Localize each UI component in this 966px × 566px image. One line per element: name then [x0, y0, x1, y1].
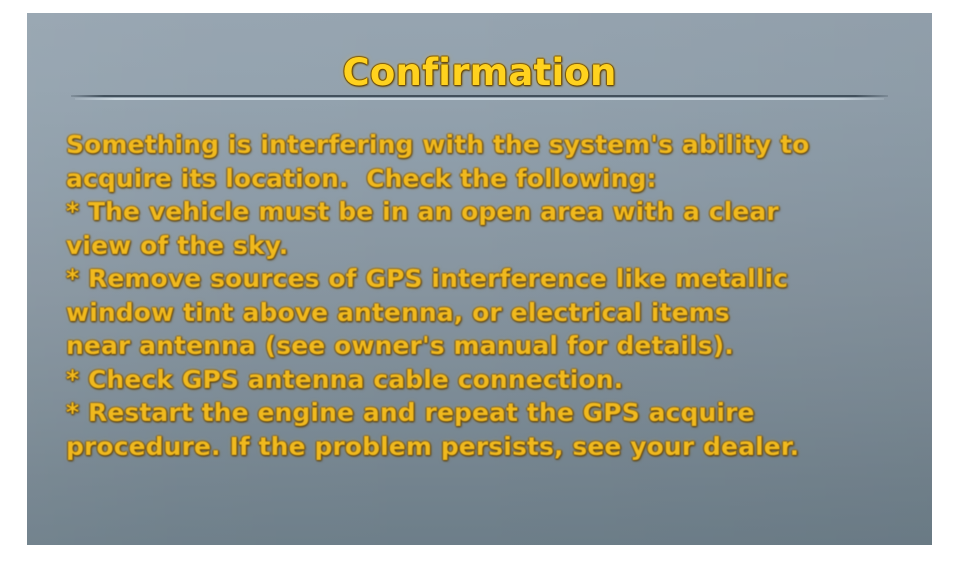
- message-line: * Remove sources of GPS interference lik…: [66, 262, 906, 296]
- message-line: Something is interfering with the system…: [66, 128, 906, 162]
- message-line: acquire its location. Check the followin…: [66, 162, 906, 196]
- message-line: near antenna (see owner's manual for det…: [66, 329, 906, 363]
- message-line: view of the sky.: [66, 229, 906, 263]
- message-line: * Restart the engine and repeat the GPS …: [66, 396, 906, 430]
- message-line: * Check GPS antenna cable connection.: [66, 363, 906, 397]
- navigation-display-panel: Confirmation Something is interfering wi…: [27, 13, 932, 545]
- message-line: * The vehicle must be in an open area wi…: [66, 195, 906, 229]
- dialog-title: Confirmation: [27, 52, 932, 94]
- message-body: Something is interfering with the system…: [66, 128, 906, 463]
- message-line: procedure. If the problem persists, see …: [66, 430, 906, 464]
- divider-shadow-line: [71, 95, 888, 97]
- divider-highlight-line: [75, 98, 884, 100]
- title-divider: [71, 95, 888, 101]
- message-line: window tint above antenna, or electrical…: [66, 296, 906, 330]
- screenshot-root: Confirmation Something is interfering wi…: [0, 0, 966, 566]
